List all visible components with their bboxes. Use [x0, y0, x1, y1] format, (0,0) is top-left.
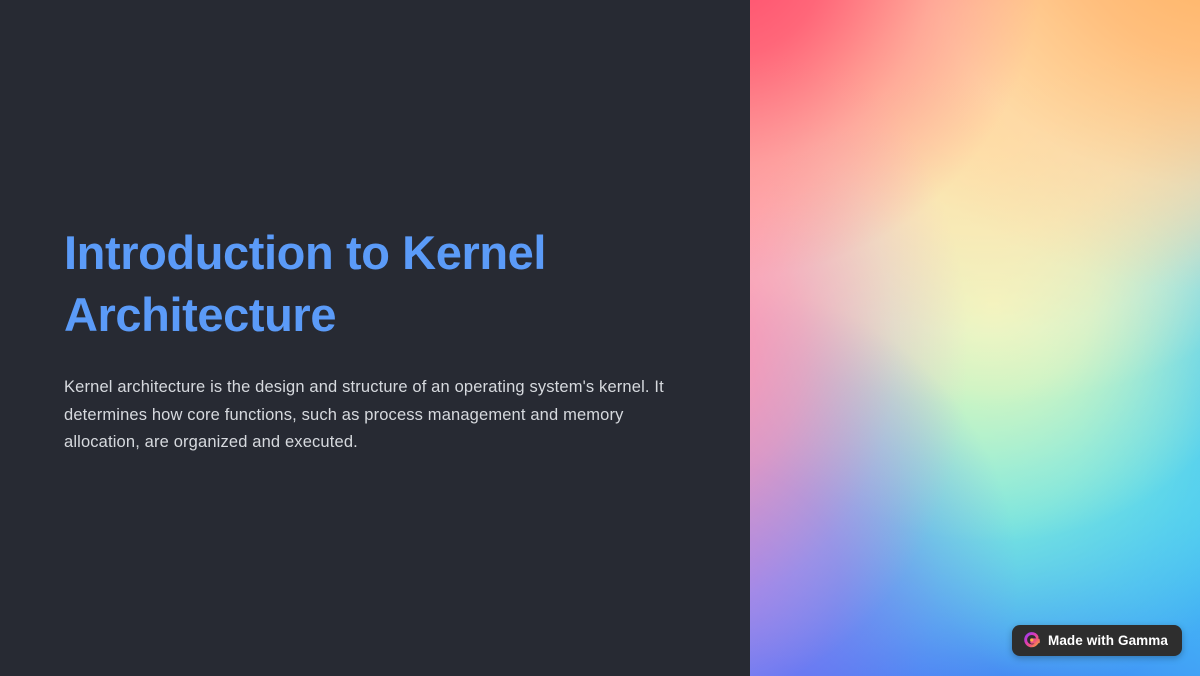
slide-description: Kernel architecture is the design and st…	[64, 374, 679, 457]
made-with-gamma-badge[interactable]: Made with Gamma	[1012, 625, 1182, 656]
made-with-gamma-label: Made with Gamma	[1048, 633, 1168, 648]
gradient-artwork-panel: Made with Gamma	[750, 0, 1200, 676]
slide: Introduction to Kernel Architecture Kern…	[0, 0, 1200, 676]
content-panel: Introduction to Kernel Architecture Kern…	[0, 0, 750, 676]
gamma-logo-icon	[1023, 632, 1040, 649]
content-block: Introduction to Kernel Architecture Kern…	[64, 222, 684, 457]
page-title: Introduction to Kernel Architecture	[64, 222, 584, 346]
